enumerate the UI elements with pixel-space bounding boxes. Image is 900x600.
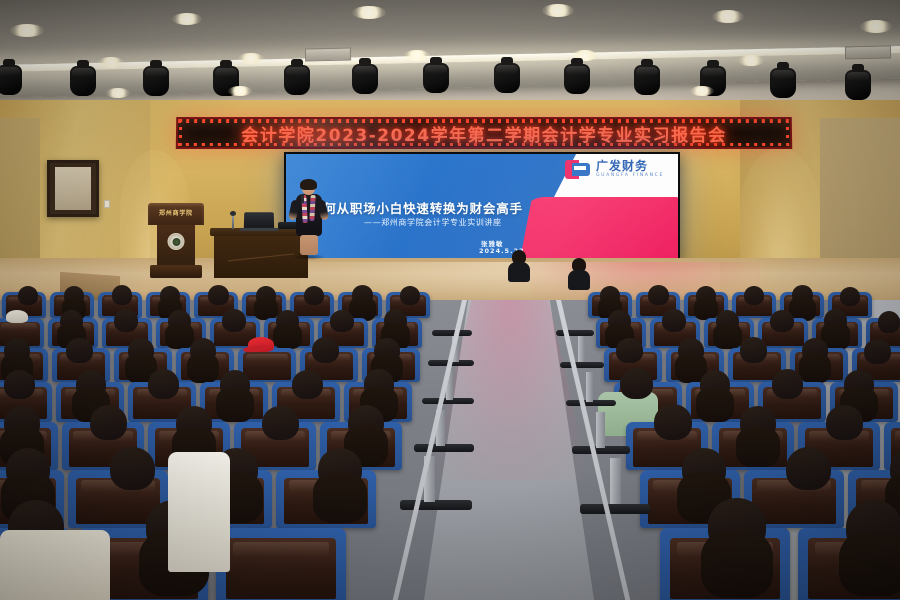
audience-head bbox=[304, 286, 324, 305]
audience-head bbox=[312, 337, 339, 363]
audience-head bbox=[168, 310, 191, 332]
lectern: 郑州商学院 bbox=[148, 203, 204, 278]
audience-head bbox=[276, 310, 299, 332]
downlight-icon bbox=[712, 10, 744, 23]
audience-head bbox=[64, 286, 84, 305]
audience-head bbox=[620, 368, 653, 399]
wall-wood-right bbox=[820, 118, 900, 278]
audience-head bbox=[802, 338, 828, 363]
downlight-icon bbox=[172, 13, 202, 25]
audience-head bbox=[740, 337, 767, 363]
downlight-icon bbox=[10, 24, 44, 37]
banner-text: 会计学院2023-2024学年第二学期会计学专业实习报告会 bbox=[178, 119, 790, 147]
audience-head bbox=[654, 404, 692, 440]
audience-clothing bbox=[0, 530, 110, 600]
audience-head bbox=[330, 310, 354, 332]
logo-mark-icon bbox=[565, 160, 591, 179]
downlight-icon bbox=[738, 55, 764, 66]
projection-screen: 广发财务 GUANGFA FINANCE 如何从职场小白快速转换为财会高手 ——… bbox=[284, 152, 680, 263]
spotlight-icon bbox=[0, 65, 22, 95]
audience-head bbox=[616, 338, 643, 363]
draped-jacket bbox=[168, 452, 230, 572]
handheld-microphone-icon bbox=[301, 194, 304, 203]
seat-leg bbox=[596, 412, 605, 448]
ceiling-vent bbox=[845, 46, 891, 60]
downlight-icon bbox=[238, 53, 264, 64]
audience-head bbox=[600, 286, 620, 305]
audience-head bbox=[318, 448, 362, 490]
wall-light-glow bbox=[740, 148, 820, 273]
spotlight-icon bbox=[564, 64, 590, 94]
wall-switch[interactable] bbox=[104, 200, 110, 208]
audience-head bbox=[878, 311, 900, 333]
wall-door-panel bbox=[47, 160, 99, 217]
downlight-icon bbox=[98, 57, 124, 68]
audience-red-cap bbox=[248, 337, 274, 352]
presenter-legs bbox=[300, 235, 318, 255]
microphone-icon bbox=[232, 214, 234, 229]
audience-head bbox=[220, 370, 250, 399]
audience-head bbox=[400, 286, 420, 305]
audience-head bbox=[744, 286, 764, 305]
lectern-label: 郑州商学院 bbox=[148, 208, 204, 217]
audience-head bbox=[348, 405, 384, 440]
audience-head bbox=[112, 285, 132, 305]
wall-wood-left bbox=[0, 118, 40, 278]
audience-head bbox=[740, 406, 776, 440]
led-banner: 会计学院2023-2024学年第二学期会计学专业实习报告会 bbox=[176, 117, 792, 149]
slide-subtitle: ——郑州商学院会计学专业实训讲座 bbox=[364, 217, 594, 228]
downlight-icon bbox=[228, 86, 252, 96]
audience-head bbox=[824, 309, 847, 332]
spotlight-icon bbox=[494, 63, 520, 93]
audience-head bbox=[176, 406, 212, 440]
audience-head bbox=[608, 310, 631, 332]
audience-cap bbox=[6, 310, 28, 323]
seated-person bbox=[568, 258, 590, 288]
audience-head bbox=[826, 405, 863, 440]
downlight-icon bbox=[860, 20, 892, 33]
audience-head bbox=[770, 310, 794, 332]
logo-text-en: GUANGFA FINANCE bbox=[596, 172, 664, 179]
audience-head bbox=[66, 338, 93, 363]
audience-head bbox=[76, 370, 106, 399]
lectern-base bbox=[150, 265, 202, 278]
spotlight-icon bbox=[143, 66, 169, 96]
audience-head bbox=[716, 310, 739, 332]
audience-head bbox=[110, 447, 155, 490]
audience-head bbox=[222, 309, 246, 332]
seat-armrest bbox=[556, 330, 594, 336]
audience-head bbox=[352, 285, 373, 305]
seat-leg bbox=[586, 372, 593, 402]
audience-head bbox=[786, 447, 831, 490]
audience-head bbox=[864, 339, 891, 364]
presenter-hair bbox=[300, 179, 317, 190]
school-crest-icon bbox=[168, 233, 185, 250]
spotlight-icon bbox=[845, 70, 871, 100]
seat-leg bbox=[610, 458, 621, 504]
spotlight-icon bbox=[770, 68, 796, 98]
seat-armrest bbox=[580, 504, 650, 514]
seat-leg bbox=[578, 336, 585, 362]
spotlight-icon bbox=[284, 65, 310, 95]
audience-head bbox=[772, 369, 803, 399]
audience-head bbox=[648, 285, 669, 305]
audience-head bbox=[128, 338, 154, 363]
audience-head bbox=[846, 500, 900, 554]
spotlight-icon bbox=[352, 64, 378, 94]
seated-person bbox=[508, 250, 530, 280]
audience-head bbox=[6, 448, 50, 490]
audience-head bbox=[190, 338, 216, 363]
spotlight-icon bbox=[423, 63, 449, 93]
spotlight-icon bbox=[70, 66, 96, 96]
auditorium-photo: 会计学院2023-2024学年第二学期会计学专业实习报告会 广发财务 GUANG… bbox=[0, 0, 900, 600]
downlight-icon bbox=[106, 88, 130, 98]
audience-head bbox=[114, 309, 138, 332]
audience-head bbox=[18, 286, 38, 305]
audience-head bbox=[384, 309, 407, 332]
ceiling-vent bbox=[305, 48, 351, 62]
company-logo: 广发财务 GUANGFA FINANCE bbox=[565, 160, 664, 179]
audience-head bbox=[60, 310, 83, 332]
audience-head bbox=[374, 338, 400, 363]
audience-head bbox=[160, 286, 180, 305]
seat-armrest bbox=[400, 500, 472, 510]
downlight-icon bbox=[352, 6, 386, 19]
audience-head bbox=[682, 448, 726, 490]
audience-head bbox=[4, 338, 30, 363]
slide-title: 如何从职场小白快速转换为财会高手 bbox=[310, 198, 560, 217]
audience-head bbox=[4, 406, 40, 440]
audience-head bbox=[256, 286, 276, 305]
audience-head bbox=[844, 370, 874, 399]
audience-head bbox=[208, 285, 229, 305]
downlight-icon bbox=[542, 4, 574, 17]
audience-head bbox=[840, 287, 860, 306]
audience-head bbox=[708, 498, 766, 554]
audience-head bbox=[262, 406, 299, 440]
laptop-icon bbox=[244, 212, 274, 229]
audience-head bbox=[678, 338, 704, 363]
presenter-person bbox=[291, 180, 327, 264]
audience-head bbox=[292, 370, 323, 399]
audience-head bbox=[792, 285, 813, 305]
downlight-icon bbox=[404, 50, 430, 61]
seat-armrest bbox=[560, 362, 604, 368]
audience-head bbox=[4, 370, 35, 399]
audience-head bbox=[90, 405, 127, 440]
seat[interactable] bbox=[216, 528, 346, 600]
spotlight-icon bbox=[634, 65, 660, 95]
audience-head bbox=[364, 369, 394, 399]
audience-head bbox=[696, 286, 716, 305]
audience-head bbox=[148, 369, 179, 399]
audience-head bbox=[700, 370, 730, 399]
downlight-icon bbox=[690, 86, 714, 96]
logo-text-cn: 广发财务 bbox=[596, 160, 664, 172]
audience-head bbox=[662, 309, 686, 332]
slide: 广发财务 GUANGFA FINANCE 如何从职场小白快速转换为财会高手 ——… bbox=[286, 154, 678, 261]
